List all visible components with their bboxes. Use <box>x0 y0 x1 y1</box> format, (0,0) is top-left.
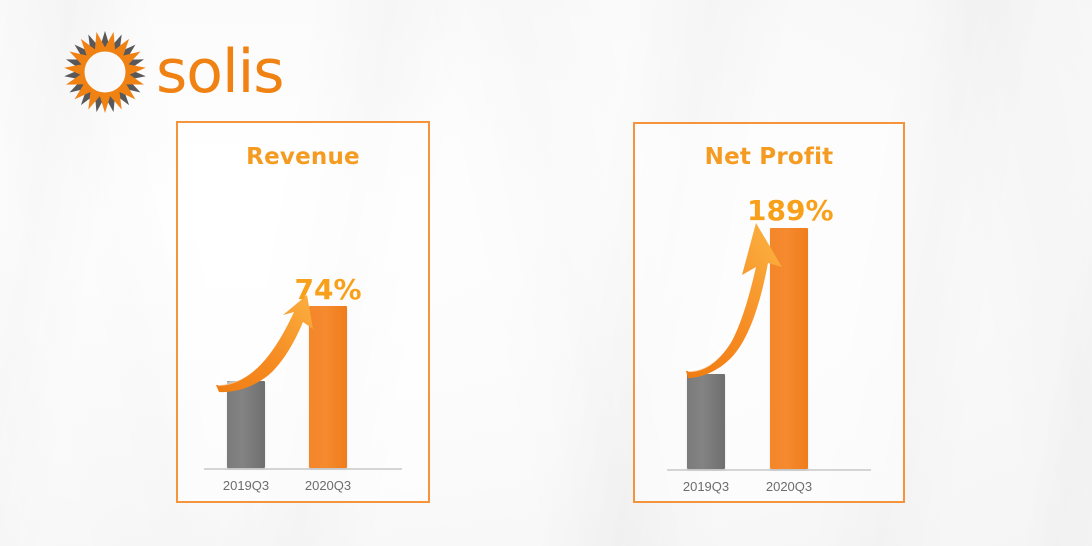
tick-label-2019q3: 2019Q3 <box>666 479 746 494</box>
bar-value-2020q3: 74% <box>288 273 368 306</box>
tick-label-2020q3: 2020Q3 <box>288 478 368 493</box>
tick-label-2020q3: 2020Q3 <box>749 479 829 494</box>
bar-2019q3 <box>687 374 725 469</box>
bar-value-2020q3: 189% <box>747 194 833 227</box>
chart-card-net-profit: Net Profit <box>633 122 905 503</box>
bar-2020q3 <box>770 228 808 469</box>
brand-logo: solis <box>58 26 298 118</box>
slide-canvas: solis Revenue <box>0 0 1092 546</box>
bar-2020q3 <box>309 306 347 468</box>
sun-starburst-icon <box>58 26 152 118</box>
brand-wordmark: solis <box>156 38 284 106</box>
bar-2019q3 <box>227 381 265 468</box>
plot-area-revenue: 74% 2019Q3 2020Q3 <box>178 123 428 501</box>
axis-baseline <box>667 469 871 471</box>
axis-baseline <box>204 468 402 470</box>
plot-area-net-profit: 189% 2019Q3 2020Q3 <box>635 124 903 501</box>
tick-label-2019q3: 2019Q3 <box>206 478 286 493</box>
chart-card-revenue: Revenue <box>176 121 430 503</box>
